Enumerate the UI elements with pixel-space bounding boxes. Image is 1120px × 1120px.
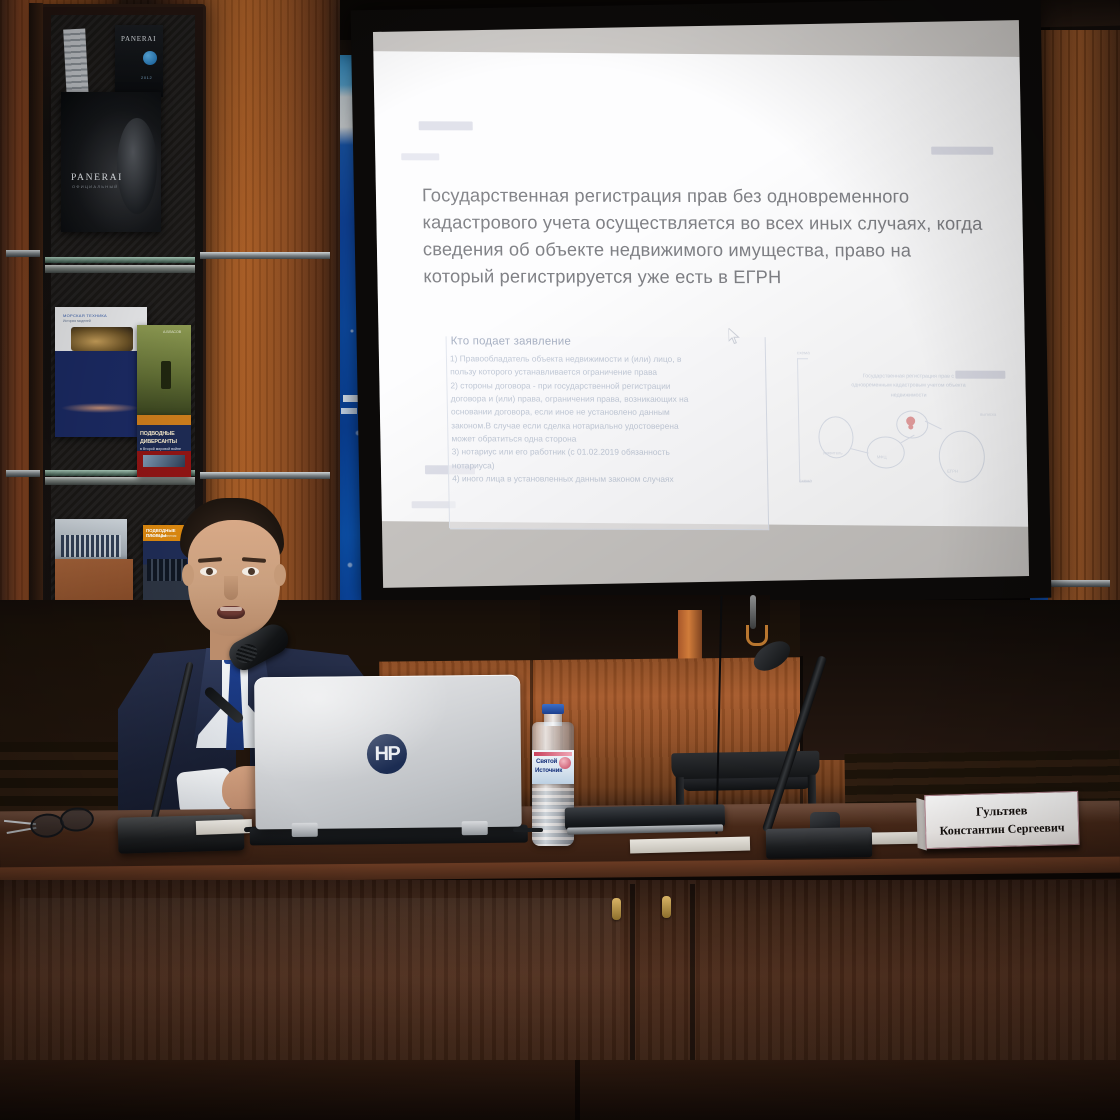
wall-metal-accent <box>6 470 40 477</box>
eye-left <box>200 567 217 576</box>
book-marine-tech-subtitle: История моделей <box>63 319 91 323</box>
bottle-label-ribbon <box>534 752 572 756</box>
placard-surname: Гультяев <box>976 803 1028 819</box>
slide-body-line: 4) иного лица в установленных данным зак… <box>452 472 768 486</box>
laptop-lid: HP <box>254 675 522 830</box>
panerai-catalog-label: PANERAI <box>71 172 123 183</box>
microphone-base-right[interactable] <box>766 827 873 859</box>
presentation-room-photo: PANERAI 2012 PANERAI ОФИЦИАЛЬНЫЙ МОРСКАЯ… <box>0 0 1120 1120</box>
ear-left <box>182 564 194 586</box>
diagram-node <box>938 431 985 483</box>
eyeglasses[interactable] <box>29 803 111 839</box>
book-green: А.ВЛАСОВ <box>137 325 191 415</box>
book-underwater-subtitle: в Второй мировой войне <box>140 447 181 451</box>
dark-wall-right <box>800 600 1120 760</box>
slide-body-heading: Кто подает заявление <box>451 335 572 347</box>
diagram-heading: Государственная регистрация прав с однов… <box>847 372 970 400</box>
book-marine-tech: МОРСКАЯ ТЕХНИКА История моделей <box>55 307 147 437</box>
slide-body-line: 3) нотариус или его работник (с 01.02.20… <box>452 446 768 460</box>
wall-metal-accent <box>6 250 40 257</box>
name-placard: Гультяев Константин Сергеевич <box>924 791 1078 857</box>
drawer-handle[interactable] <box>612 898 621 920</box>
desk-cable <box>513 828 543 832</box>
laptop-hinge-foot <box>462 821 488 835</box>
mural-highlight-secondary <box>341 408 357 414</box>
bottle-label-emblem-icon <box>559 757 571 769</box>
placard-given-patronymic: Константин Сергеевич <box>939 820 1064 838</box>
book-marine-tech-title: МОРСКАЯ ТЕХНИКА <box>63 313 107 318</box>
slide-accent-bar <box>419 121 473 130</box>
leaflet-stack <box>63 28 89 99</box>
slide-accent-bar <box>931 147 993 155</box>
ceiling-hook <box>750 595 756 629</box>
slide-body-line: нотариуса) <box>452 459 768 473</box>
bottle-brand-line-1: Святой <box>536 758 557 765</box>
diagram-node <box>866 436 905 468</box>
bottle-cap[interactable] <box>542 704 564 714</box>
diagram-node-label: ЕГРН <box>947 469 958 474</box>
diagram-accent-dot <box>908 425 913 430</box>
nose <box>224 576 238 600</box>
book-underwater-title-2: ДИВЕРСАНТЫ <box>140 439 177 445</box>
projection-screen-surface: Государственная регистрация прав без одн… <box>373 20 1029 588</box>
slide-mini-diagram: схема схема Государственная регистрация … <box>797 354 987 484</box>
photograph-people-row <box>61 535 121 557</box>
hp-logo-text: HP <box>374 742 399 765</box>
panerai-box-year: 2012 <box>141 75 152 80</box>
panerai-catalog-sublabel: ОФИЦИАЛЬНЫЙ <box>72 184 118 189</box>
slide-body-line: основании договора, если иное не установ… <box>451 406 767 420</box>
diagram-bracket <box>797 358 810 482</box>
book-cover-art <box>71 327 133 351</box>
hp-laptop[interactable]: HP <box>254 675 522 846</box>
desk-panel-highlight <box>20 898 620 1048</box>
display-shelf <box>45 265 195 273</box>
ear-right <box>274 564 286 586</box>
drawer-handle[interactable] <box>662 896 671 918</box>
book-underwater-title-1: ПОДВОДНЫЕ <box>140 431 175 437</box>
bottle-brand-line-2: Источник <box>535 767 562 774</box>
desk-base-band <box>0 1060 1120 1120</box>
projection-screen: Государственная регистрация прав без одн… <box>351 0 1052 610</box>
book-underwater-saboteurs: ПОДВОДНЫЕ ДИВЕРСАНТЫ в Второй мировой во… <box>137 415 191 477</box>
chair-seat <box>682 777 812 791</box>
book-cover-plane-art <box>143 455 185 467</box>
panerai-box: PANERAI 2012 <box>115 25 163 97</box>
display-shelf <box>45 477 195 485</box>
diagram-bottom-caption: схема <box>799 478 812 483</box>
diagram-top-caption: схема <box>797 350 810 355</box>
laptop-hinge-foot <box>292 823 318 837</box>
diagram-side-note: выписка <box>980 411 996 418</box>
book-green-figure <box>161 361 171 389</box>
slide-body-line: может обратиться одна сторона <box>451 432 767 446</box>
placard-face: Гультяев Константин Сергеевич <box>924 791 1079 849</box>
diagram-node-label: МФЦ <box>877 454 887 459</box>
slide-accent-bar <box>401 153 439 160</box>
eye-right <box>242 567 259 576</box>
paper-sheet[interactable] <box>630 837 750 854</box>
presentation-slide: Государственная регистрация прав без одн… <box>373 51 1028 527</box>
hp-logo-icon: HP <box>367 734 407 774</box>
closed-laptop[interactable] <box>565 804 726 841</box>
diagram-node-label: заявитель <box>823 450 843 455</box>
shelf-reflection <box>61 403 139 413</box>
slide-body-lines: 1) Правообладатель объекта недвижимости … <box>450 352 769 486</box>
mouth <box>217 606 245 619</box>
slide-body-line: 2) стороны договора - при государственно… <box>450 379 766 393</box>
watch-illustration <box>117 118 157 214</box>
slide-body-line: договора и (или) права, ограничения прав… <box>451 392 767 406</box>
wall-metal-accent <box>200 472 330 479</box>
dark-recess <box>540 595 770 665</box>
wall-metal-accent <box>200 252 330 259</box>
slide-title: Государственная регистрация прав без одн… <box>422 181 984 291</box>
desk-base-seam <box>575 1060 580 1120</box>
eyeglasses-lens <box>59 806 95 832</box>
bottle-label: Святой Источник <box>532 750 574 784</box>
slide-body-line: законом.В случае если сделка нотариально… <box>451 419 767 433</box>
slide-body-line: 1) Правообладатель объекта недвижимости … <box>450 352 766 366</box>
panerai-badge-icon <box>143 51 157 65</box>
display-shelf-glass <box>45 257 195 263</box>
panerai-catalog: PANERAI ОФИЦИАЛЬНЫЙ <box>61 92 161 232</box>
book-green-title: А.ВЛАСОВ <box>163 330 181 334</box>
panerai-box-label: PANERAI <box>121 35 156 43</box>
slide-body-line: пользу которого устанавливается ограниче… <box>450 366 766 380</box>
